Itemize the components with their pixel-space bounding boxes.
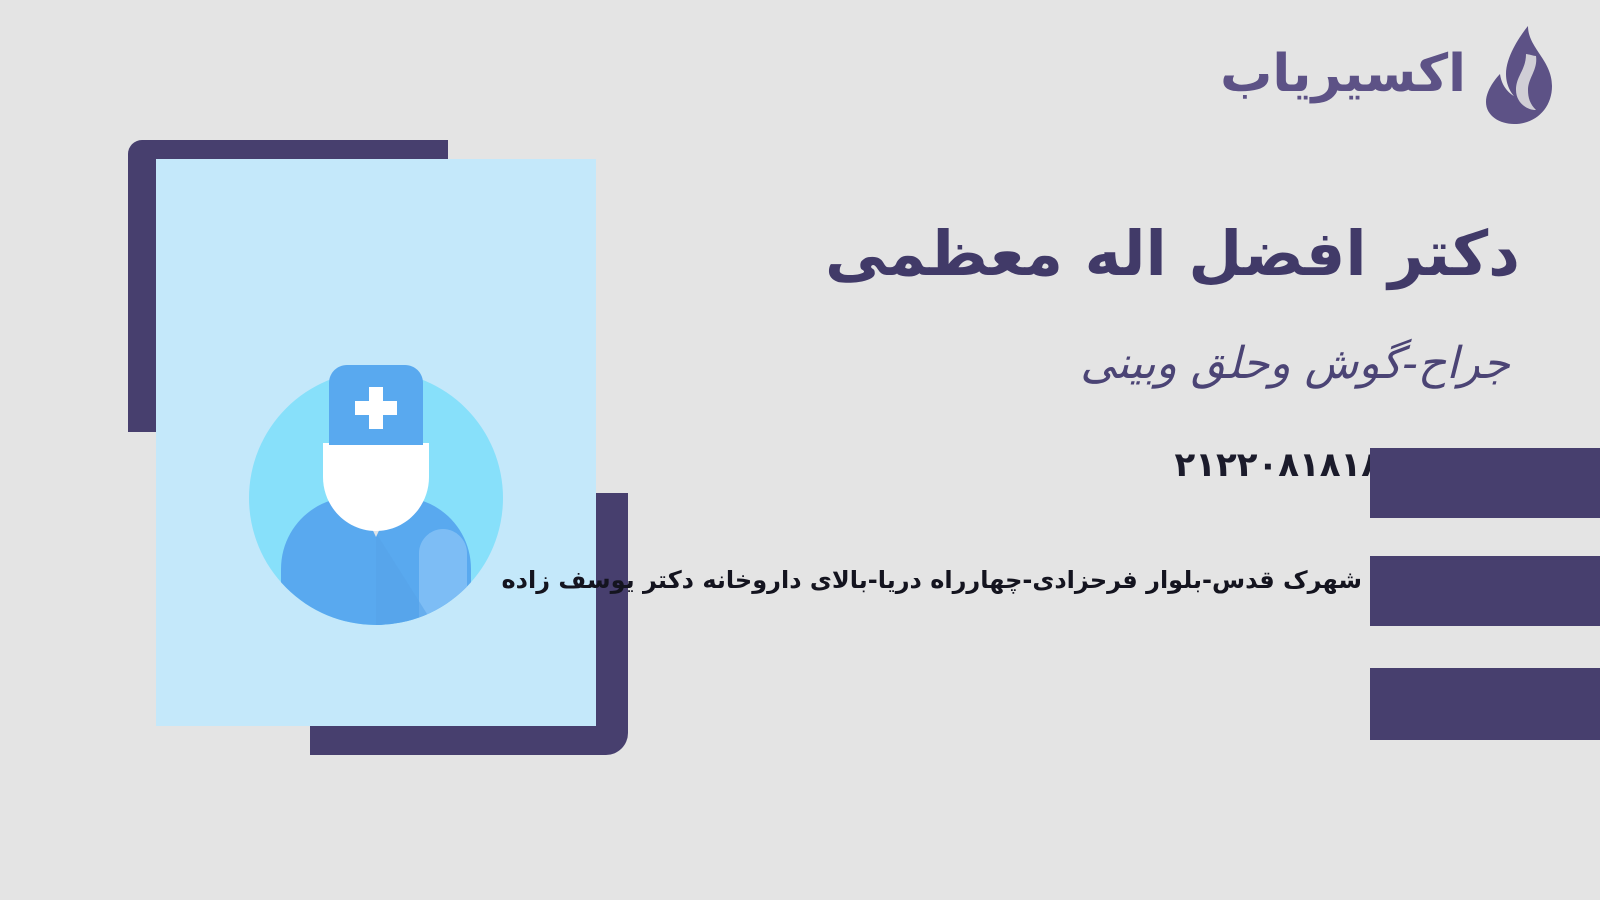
doctor-avatar-icon	[241, 355, 511, 625]
doctor-profile-card: اکسیریاب دکتر افضل اله معظمی جراح-گوش وح…	[0, 0, 1600, 900]
decorative-bar-1	[1370, 448, 1600, 518]
brand-logo[interactable]: اکسیریاب	[1220, 24, 1558, 124]
decorative-bar-3	[1370, 668, 1600, 740]
doctor-name: دکتر افضل اله معظمی	[760, 218, 1520, 289]
doctor-specialty: جراح-گوش وحلق وبینی	[770, 338, 1510, 391]
doctor-address: شهرک قدس-بلوار فرحزادی-چهارراه دریا-بالا…	[502, 565, 1362, 596]
flame-droplet-icon	[1480, 24, 1558, 124]
decorative-bar-2	[1370, 556, 1600, 626]
doctor-phone[interactable]: ۲۱۲۲۰۸۱۸۱۸	[1174, 445, 1382, 485]
doctor-illustration	[0, 0, 700, 900]
doctor-photo-card	[156, 159, 596, 726]
brand-name: اکسیریاب	[1220, 48, 1466, 100]
